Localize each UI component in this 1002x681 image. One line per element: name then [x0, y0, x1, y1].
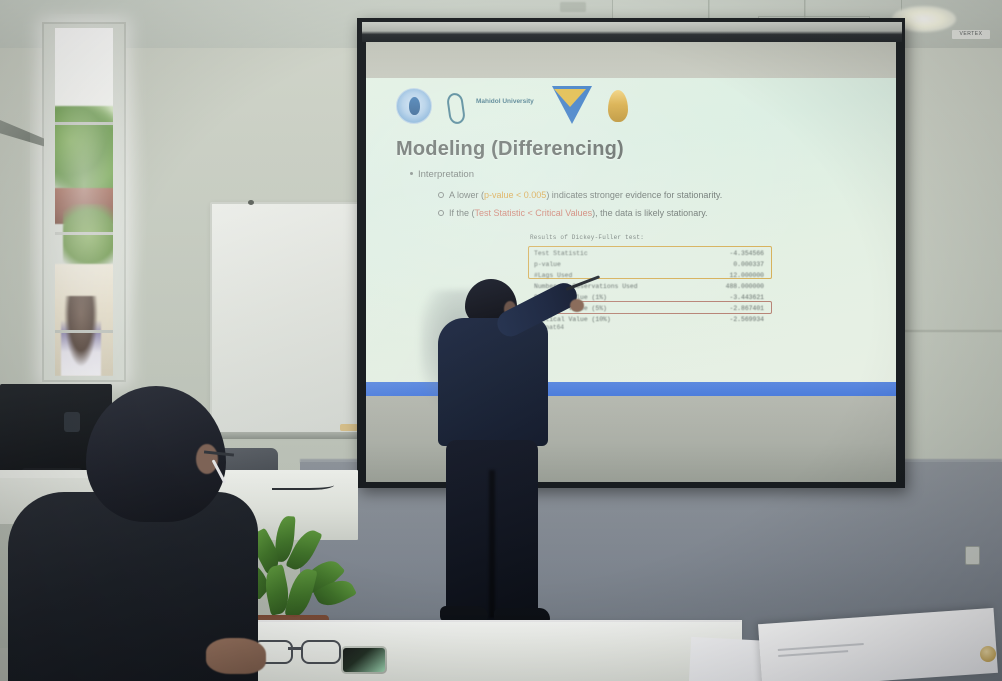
bullet-interpretation: Interpretation — [410, 169, 474, 180]
presenter-leg-gap — [489, 470, 495, 618]
lecture-hall-photo: VERTEX Mahidol University Modeling (Diff… — [0, 0, 1002, 681]
bullet-dot-icon — [410, 172, 413, 175]
code-output-caption: Results of Dickey-Fuller test: — [530, 234, 644, 241]
bullet-p-value-post: ) indicates stronger evidence for statio… — [546, 190, 722, 200]
door-knob — [980, 646, 996, 662]
tree-foliage — [55, 106, 113, 192]
screen-blank-top — [366, 42, 896, 82]
attendee-ear — [196, 444, 218, 474]
slide-logo-row: Mahidol University — [396, 86, 606, 130]
eyeglasses-on-table — [253, 638, 343, 664]
smartphone-screen — [343, 648, 385, 672]
code-output-row: Critical Value (10%)-2.569934 — [530, 314, 770, 325]
bullet-circle-icon — [438, 210, 444, 216]
wall-outlet — [965, 546, 980, 565]
mahidol-university-label: Mahidol University — [476, 98, 548, 106]
highlight-box-orange — [528, 246, 772, 279]
screen-brand-label: VERTEX — [952, 30, 990, 39]
bullet-p-value-pre: A lower ( — [449, 190, 484, 200]
whiteboard-tray — [208, 432, 366, 439]
window-glass — [55, 28, 113, 376]
whiteboard-marker — [340, 424, 358, 431]
eyeglasses-lens-right — [301, 640, 341, 664]
whiteboard-pin — [248, 200, 254, 205]
code-output-value: -2.569934 — [729, 314, 764, 325]
monitor-logo — [64, 412, 80, 432]
bullet-p-value-highlight: p-value < 0.005 — [484, 190, 546, 200]
bullet-test-statistic: If the (Test Statistic < Critical Values… — [438, 208, 708, 218]
gold-emblem-logo — [608, 90, 628, 122]
ceiling-vent — [560, 2, 586, 12]
presenter-hand — [570, 299, 584, 312]
cable — [272, 478, 334, 490]
faculty-seal-logo — [396, 88, 432, 124]
mahidol-university-logo — [444, 92, 474, 122]
presenter-torso — [438, 318, 548, 446]
bullet-test-statistic-post: ), the data is likely stationary. — [592, 208, 707, 218]
slide-title: Modeling (Differencing) — [396, 138, 624, 161]
bullet-p-value: A lower (p-value < 0.005) indicates stro… — [438, 190, 722, 200]
triangle-badge-inner — [554, 89, 586, 107]
attendee-hand — [206, 638, 266, 674]
screen-roller — [362, 22, 902, 42]
whiteboard — [210, 202, 360, 434]
bullet-test-statistic-highlight: Test Statistic < Critical Values — [475, 208, 593, 218]
smartphone-on-table[interactable] — [341, 646, 387, 674]
outdoor-person — [61, 296, 101, 376]
bullet-test-statistic-pre: If the ( — [449, 208, 475, 218]
bullet-circle-icon — [438, 192, 444, 198]
bullet-interpretation-label: Interpretation — [418, 169, 474, 180]
code-output-value: 488.000000 — [726, 281, 764, 292]
